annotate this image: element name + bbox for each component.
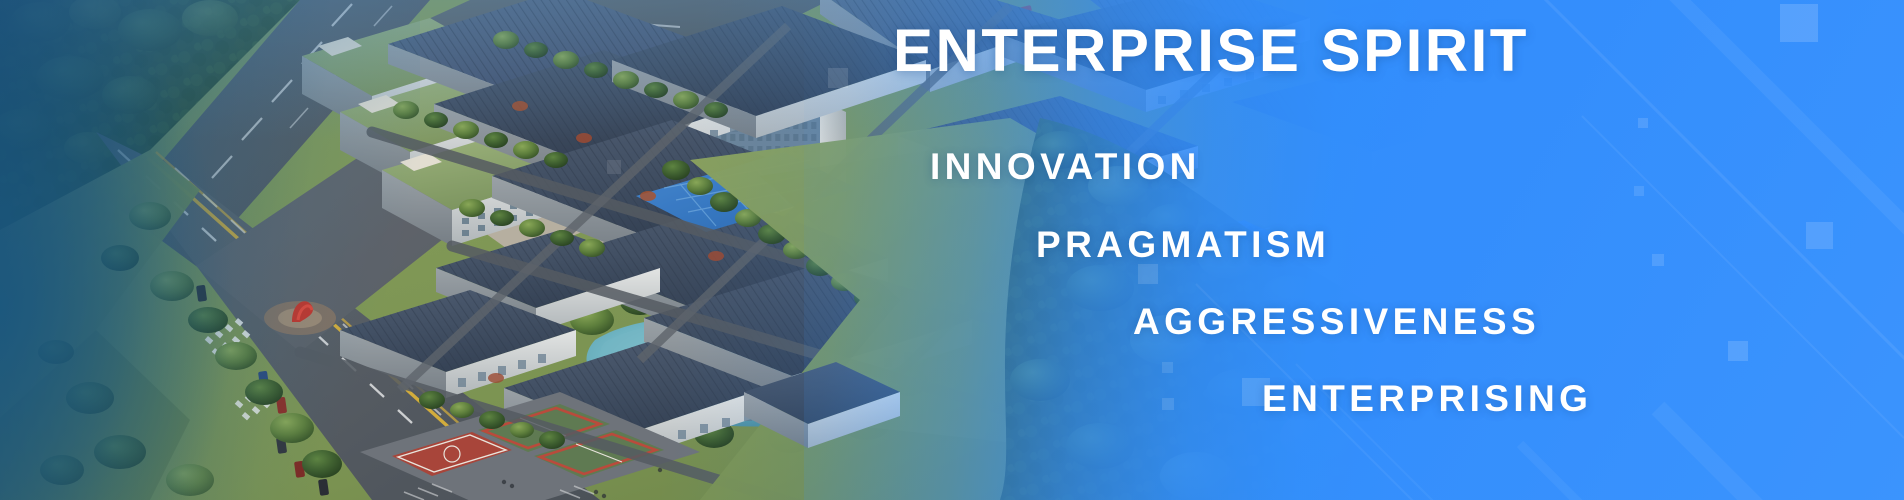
slogan-aggressiveness: AGGRESSIVENESS <box>1133 303 1540 340</box>
slogan-innovation: INNOVATION <box>930 148 1201 185</box>
banner-headline: ENTERPRISE SPIRIT <box>893 21 1529 81</box>
enterprise-spirit-banner: ENTERPRISE SPIRIT INNOVATION PRAGMATISM … <box>0 0 1904 500</box>
slogan-enterprising: ENTERPRISING <box>1262 380 1592 417</box>
slogan-pragmatism: PRAGMATISM <box>1036 226 1330 263</box>
